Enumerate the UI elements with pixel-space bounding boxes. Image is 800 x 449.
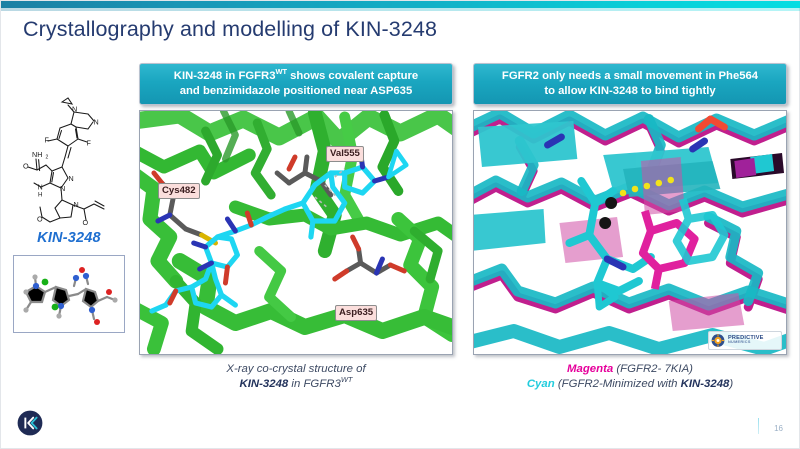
svg-text:N: N [72, 105, 77, 114]
svg-text:F: F [45, 136, 50, 145]
panel-left-banner-line1: KIN-3248 in FGFR3 [174, 70, 276, 82]
panel-left-image[interactable]: Cys482 Val555 Asp635 [139, 110, 453, 355]
svg-text:N: N [94, 118, 99, 127]
page-title: Crystallography and modelling of KIN-324… [23, 17, 437, 42]
caption-magenta-rest: (FGFR2- 7KIA) [613, 363, 693, 375]
panel-left-banner-line1-tail: shows covalent capture [287, 70, 418, 82]
chemical-structure-3d-thumbnail [13, 255, 125, 333]
svg-text:N: N [60, 184, 65, 193]
panel-left-caption-compound: KIN-3248 [240, 378, 289, 390]
panel-right: FGFR2 only needs a small movement in Phe… [469, 63, 791, 392]
residue-label-cys482: Cys482 [158, 183, 200, 199]
svg-text:O: O [23, 162, 29, 171]
svg-text:2: 2 [46, 155, 49, 161]
svg-text:H: H [38, 192, 42, 199]
panel-left-caption-superscript: WT [341, 375, 353, 384]
svg-text:F: F [87, 139, 92, 148]
chemical-structure-3d-icon [14, 256, 125, 333]
compound-name: KIN-3248 [7, 230, 131, 246]
panel-left-caption-mid: in FGFR3 [288, 378, 341, 390]
protein-ribbon-structure-green-icon [140, 111, 452, 354]
chemical-structure-2d-icon: F F N N N N N N H NH 2 O O O [7, 97, 131, 229]
page-number: 16 [774, 424, 783, 433]
caption-cyan-compound: KIN-3248 [681, 378, 730, 390]
svg-text:N: N [69, 174, 74, 183]
panel-right-banner-line2: to allow KIN-3248 to bind tightly [544, 85, 715, 97]
slide-canvas: Crystallography and modelling of KIN-324… [0, 0, 800, 449]
svg-text:O: O [83, 218, 89, 227]
panel-left: KIN-3248 in FGFR3WT shows covalent captu… [135, 63, 457, 392]
svg-text:NH: NH [32, 150, 42, 159]
svg-text:N: N [38, 183, 43, 192]
protein-overlay-structure-magenta-cyan-icon [474, 111, 786, 354]
page-number-divider [758, 418, 759, 434]
top-accent-bar [1, 1, 800, 8]
panel-right-caption: Magenta (FGFR2- 7KIA) Cyan (FGFR2-Minimi… [469, 362, 791, 392]
panel-right-banner-line1: FGFR2 only needs a small movement in Phe… [502, 70, 758, 82]
top-accent-bar-fade [1, 8, 800, 11]
predictive-numerics-line2: NUMERICS [728, 341, 764, 345]
compound-column: F F N N N N N N H NH 2 O O O KIN-3248 [7, 97, 131, 347]
panel-right-image[interactable]: PREDICTIVE NUMERICS [473, 110, 787, 355]
panel-left-banner-superscript: WT [275, 67, 287, 76]
panel-left-banner: KIN-3248 in FGFR3WT shows covalent captu… [139, 63, 453, 105]
kinnate-k-logo-icon [17, 410, 43, 436]
caption-magenta-keyword: Magenta [567, 363, 613, 375]
panel-right-banner: FGFR2 only needs a small movement in Phe… [473, 63, 787, 105]
caption-cyan-tail: ) [729, 378, 733, 390]
caption-cyan-keyword: Cyan [527, 378, 555, 390]
residue-label-asp635: Asp635 [335, 305, 377, 321]
caption-cyan-rest: (FGFR2-Minimized with [555, 378, 681, 390]
predictive-numerics-logo-icon [711, 332, 725, 349]
residue-label-val555: Val555 [326, 146, 364, 162]
panel-left-banner-line2: and benzimidazole positioned near ASP635 [180, 85, 412, 97]
predictive-numerics-logo: PREDICTIVE NUMERICS [708, 331, 782, 350]
svg-text:O: O [37, 215, 43, 224]
svg-text:N: N [74, 200, 79, 209]
panel-left-caption-line1: X-ray co-crystal structure of [226, 363, 365, 375]
panel-left-caption: X-ray co-crystal structure of KIN-3248 i… [135, 362, 457, 392]
